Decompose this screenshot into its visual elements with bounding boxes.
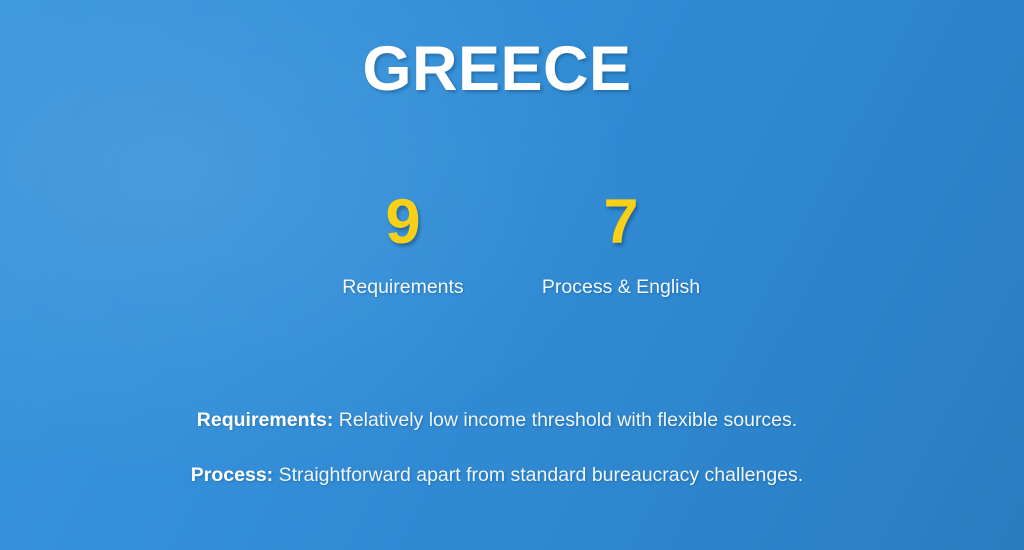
notes-block: Requirements: Relatively low income thre… — [0, 408, 994, 488]
note-process-label: Process: — [191, 464, 273, 486]
page-title: GREECE — [362, 38, 631, 101]
note-requirements-label: Requirements: — [197, 409, 334, 431]
stat-process-english: 7 Process & English — [512, 190, 730, 300]
note-process: Process: Straightforward apart from stan… — [0, 463, 994, 487]
page-title-container: GREECE — [0, 38, 994, 101]
note-process-text: Straightforward apart from standard bure… — [273, 464, 803, 486]
country-summary-card: GREECE 9 Requirements 7 Process & Englis… — [0, 0, 1024, 550]
stat-process-english-label: Process & English — [512, 276, 730, 299]
note-requirements: Requirements: Relatively low income thre… — [0, 408, 994, 432]
stat-requirements-value: 9 — [294, 190, 512, 254]
stat-requirements-label: Requirements — [294, 276, 512, 299]
stat-requirements: 9 Requirements — [294, 190, 512, 300]
note-requirements-text: Relatively low income threshold with fle… — [333, 409, 797, 431]
stat-process-english-value: 7 — [512, 190, 730, 254]
stats-row: 9 Requirements 7 Process & English — [0, 190, 1024, 300]
